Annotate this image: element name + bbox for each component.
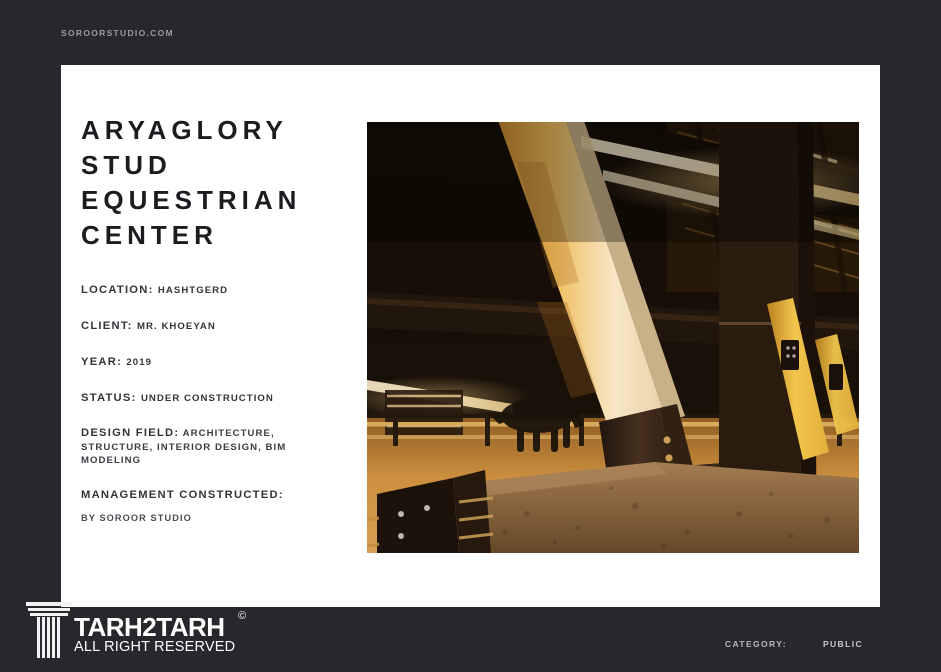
meta-row-design-field: Design Field: Architecture, Structure, I…: [81, 427, 346, 468]
status-value: Under Construction: [141, 393, 274, 404]
meta-row-management: Management Constructed:: [81, 488, 346, 503]
client-value: Mr. Khoeyan: [137, 321, 216, 332]
client-label: Client:: [81, 320, 133, 332]
year-value: 2019: [126, 357, 152, 368]
meta-row-year: Year: 2019: [81, 355, 346, 370]
watermark-subtitle: ALL RIGHT RESERVED: [74, 639, 235, 655]
meta-row-location: Location: Hashtgerd: [81, 283, 346, 298]
site-url-label: SOROORSTUDIO.COM: [61, 27, 174, 38]
watermark-text: TARH2TARH © ALL RIGHT RESERVED: [74, 614, 235, 658]
meta-row-status: Status: Under Construction: [81, 391, 346, 406]
category-value: Public: [823, 639, 863, 649]
column-icon: [26, 596, 72, 658]
watermark-logo: TARH2TARH © ALL RIGHT RESERVED: [26, 596, 235, 658]
status-label: Status:: [81, 392, 137, 404]
project-photo: [367, 122, 859, 553]
management-value: by Soroor Studio: [81, 511, 346, 525]
watermark-brand-name: TARH2TARH: [74, 614, 235, 640]
project-meta-list: Location: Hashtgerd Client: Mr. Khoeyan …: [81, 283, 346, 525]
design-field-label: Design Field:: [81, 427, 179, 439]
meta-row-client: Client: Mr. Khoeyan: [81, 319, 346, 334]
footer-category: Category: Public: [725, 639, 863, 649]
year-label: Year:: [81, 356, 122, 368]
category-label: Category:: [725, 639, 787, 649]
project-photo-illustration: [367, 122, 859, 553]
copyright-icon: ©: [238, 610, 246, 622]
page-title: ARYAGLORY STUD EQUESTRIAN CENTER: [81, 113, 346, 253]
location-value: Hashtgerd: [158, 285, 228, 296]
location-label: Location:: [81, 284, 154, 296]
project-card: ARYAGLORY STUD EQUESTRIAN CENTER Locatio…: [61, 65, 880, 607]
slide-canvas: SOROORSTUDIO.COM ARYAGLORY STUD EQUESTRI…: [0, 0, 941, 672]
management-label: Management Constructed:: [81, 489, 284, 501]
project-info-column: ARYAGLORY STUD EQUESTRIAN CENTER Locatio…: [81, 113, 346, 525]
